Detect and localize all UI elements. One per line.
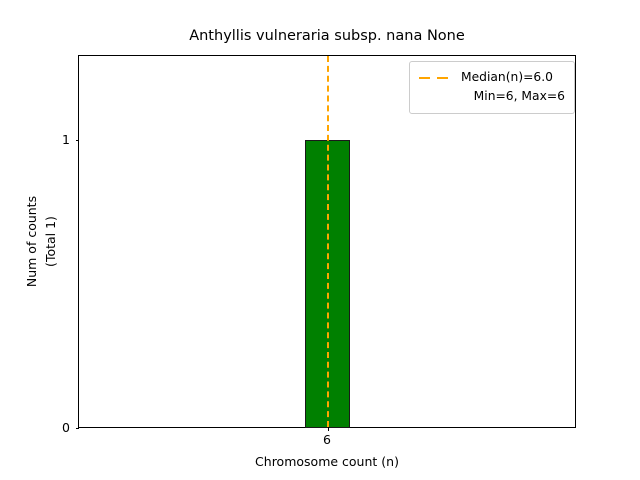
x-tick-label-6: 6 bbox=[287, 434, 367, 447]
dashed-line-icon bbox=[418, 71, 452, 85]
legend-label-minmax: Min=6, Max=6 bbox=[474, 90, 565, 102]
y-tick-label-0: 0 bbox=[6, 422, 70, 435]
y-tick-mark-0 bbox=[76, 428, 80, 429]
legend-item-median: Median(n)=6.0 bbox=[418, 68, 566, 87]
x-tick-mark-6 bbox=[328, 427, 329, 431]
y-tick-mark-1 bbox=[76, 140, 80, 141]
chart-figure: Anthyllis vulneraria subsp. nana None Nu… bbox=[0, 0, 640, 480]
page-title: Anthyllis vulneraria subsp. nana None bbox=[78, 29, 576, 44]
legend-item-minmax: Min=6, Max=6 bbox=[418, 87, 566, 106]
y-axis-total-label: (Total 1) bbox=[45, 55, 75, 428]
median-line bbox=[327, 56, 329, 427]
y-tick-label-1: 1 bbox=[6, 134, 70, 147]
legend-label-median: Median(n)=6.0 bbox=[461, 71, 553, 83]
x-axis-label: Chromosome count (n) bbox=[78, 456, 576, 469]
legend[interactable]: Median(n)=6.0 Min=6, Max=6 bbox=[409, 61, 575, 114]
